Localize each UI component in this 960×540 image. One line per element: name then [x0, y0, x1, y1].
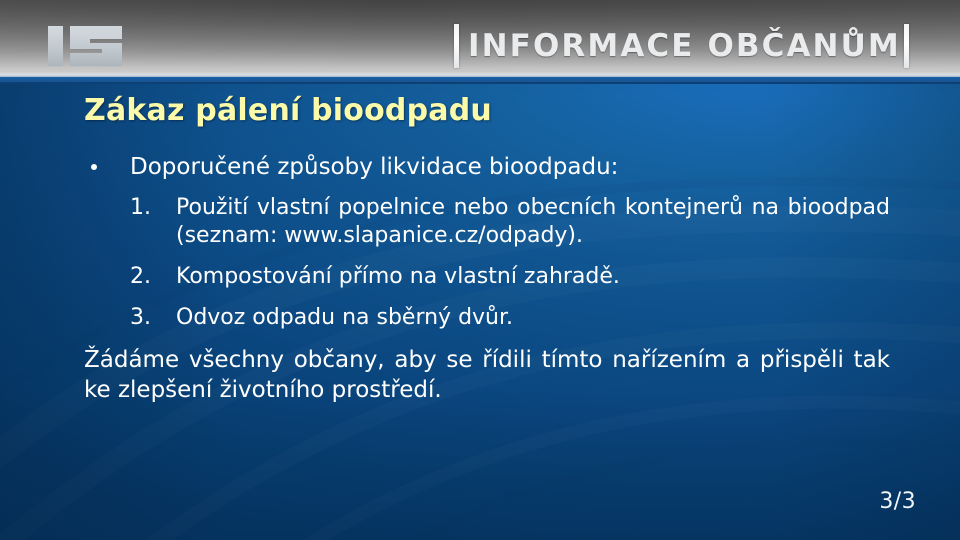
list-item-number: 1.	[130, 194, 164, 222]
list-item-number: 2.	[130, 263, 164, 291]
numbered-list: 1. Použití vlastní popelnice nebo obecní…	[84, 194, 890, 332]
bullet-item-label: Doporučené způsoby likvidace bioodpadu:	[130, 154, 618, 180]
is-logo-icon	[46, 24, 124, 68]
slide-content: Doporučené způsoby likvidace bioodpadu: …	[84, 152, 890, 405]
header-divider-bar-left	[454, 24, 459, 68]
bullet-dot-icon	[91, 164, 97, 170]
list-item: 1. Použití vlastní popelnice nebo obecní…	[84, 194, 890, 250]
header-dark-rule	[0, 82, 960, 84]
presentation-slide: INFORMACE OBČANŮM Zákaz pálení bioodpadu…	[0, 0, 960, 540]
bullet-item-intro: Doporučené způsoby likvidace bioodpadu:	[84, 152, 890, 182]
header-banner-title: INFORMACE OBČANŮM	[468, 23, 901, 69]
header-divider-bar-right	[904, 24, 909, 68]
list-item: 2. Kompostování přímo na vlastní zahradě…	[84, 263, 890, 291]
page-indicator: 3/3	[879, 489, 916, 514]
page-title: Zákaz pálení bioodpadu	[84, 93, 492, 128]
list-item-label: Kompostování přímo na vlastní zahradě.	[176, 263, 890, 291]
list-item-label: Použití vlastní popelnice nebo obecních …	[176, 194, 890, 250]
list-item-number: 3.	[130, 304, 164, 332]
list-item: 3. Odvoz odpadu na sběrný dvůr.	[84, 304, 890, 332]
list-item-label: Odvoz odpadu na sběrný dvůr.	[176, 304, 890, 332]
closing-paragraph: Žádáme všechny občany, aby se řídili tím…	[84, 345, 890, 405]
